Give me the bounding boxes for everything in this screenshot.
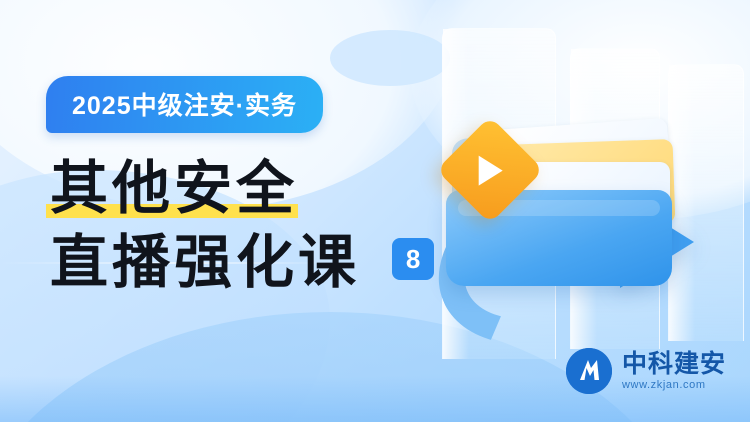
episode-badge: 8 (392, 238, 434, 280)
title-line-1: 其他安全 (50, 156, 298, 221)
play-triangle-icon (479, 156, 503, 186)
logo-mark-icon (566, 348, 612, 394)
logo-company-name: 中科建安 (622, 351, 726, 377)
course-banner: 2025中级注安·实务 其他安全 直播强化课 8 中科建安 www.zkjan.… (0, 0, 750, 422)
logo-text-block: 中科建安 www.zkjan.com (622, 351, 726, 392)
course-category-pill: 2025中级注安·实务 (46, 76, 323, 133)
brand-logo: 中科建安 www.zkjan.com (566, 348, 726, 394)
title-line-1-wrapper: 其他安全 (46, 152, 466, 226)
title-line-2-wrapper: 直播强化课 8 (46, 226, 466, 300)
title-block: 其他安全 直播强化课 8 (46, 152, 466, 300)
logo-website-url: www.zkjan.com (622, 380, 726, 392)
title-line-2: 直播强化课 (50, 230, 360, 295)
